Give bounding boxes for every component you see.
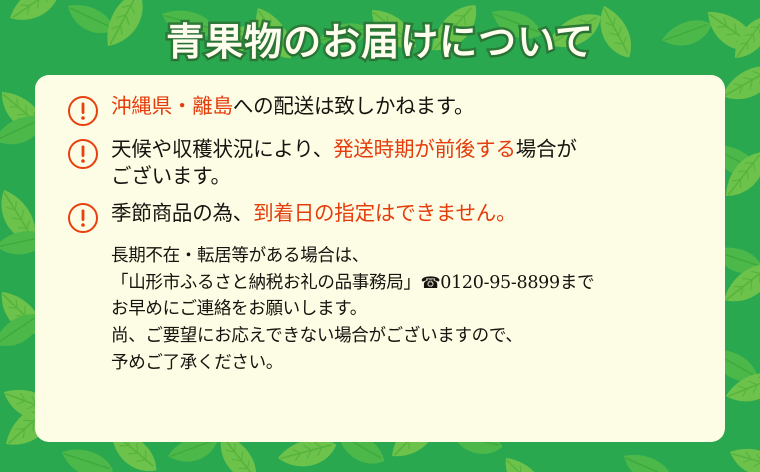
- page-title: 青果物のお届けについて: [166, 11, 594, 66]
- office-name: 「山形市ふるさと納税お礼の品事務局」: [111, 273, 421, 293]
- footer-line-1: 長期不在・転居等がある場合は、: [111, 243, 701, 270]
- notice-item-text: 天候や収穫状況により、発送時期が前後する場合が ございます。: [111, 136, 577, 191]
- title-bar: 青果物のお届けについて: [0, 0, 760, 76]
- notice-text-plain: 天候や収穫状況により、: [111, 137, 333, 161]
- notice-text-emphasis: 沖縄県・離島: [111, 94, 233, 118]
- exclamation-circle-icon: [67, 138, 99, 170]
- exclamation-circle-icon: [67, 202, 99, 234]
- notice-item-text: 季節商品の為、到着日の指定はできません。: [111, 200, 516, 227]
- exclamation-circle-icon: [67, 95, 99, 127]
- footer-note: 長期不在・転居等がある場合は、 「山形市ふるさと納税お礼の品事務局」☎0120-…: [111, 243, 701, 377]
- notice-item-text: 沖縄県・離島への配送は致しかねます。: [111, 93, 474, 120]
- notice-item: 天候や収穫状況により、発送時期が前後する場合が ございます。: [59, 136, 701, 191]
- notice-text-plain: への配送は致しかねます。: [233, 94, 475, 118]
- notice-text-plain: 季節商品の為、: [111, 201, 253, 225]
- notice-text-plain: 場合が: [516, 137, 577, 161]
- footer-line-3: お早めにご連絡をお願いします。: [111, 296, 701, 323]
- notice-card: 沖縄県・離島への配送は致しかねます。 天候や収穫状況により、発送時期が前後する場…: [35, 75, 725, 442]
- footer-line-2: 「山形市ふるさと納税お礼の品事務局」☎0120-95-8899まで: [111, 270, 701, 297]
- notice-item: 沖縄県・離島への配送は致しかねます。: [59, 93, 701, 127]
- footer-line-5: 予めご了承ください。: [111, 350, 701, 377]
- footer-line-4: 尚、ご要望にお応えできない場合がございますので、: [111, 323, 701, 350]
- notice-text-emphasis: 到着日の指定はできません。: [253, 201, 516, 225]
- notice-text-plain: ございます。: [111, 164, 231, 188]
- telephone-icon: ☎: [421, 273, 441, 292]
- footer-line-2-suffix: まで: [560, 273, 594, 293]
- notice-text-emphasis: 発送時期が前後する: [333, 137, 516, 161]
- phone-number: 0120-95-8899: [440, 273, 560, 293]
- notice-item: 季節商品の為、到着日の指定はできません。: [59, 200, 701, 234]
